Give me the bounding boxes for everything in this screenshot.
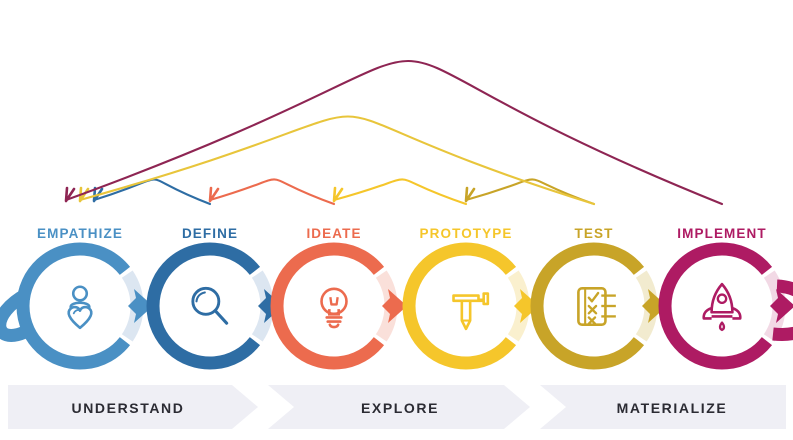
person-heart-icon: [69, 287, 92, 328]
ring-arc: [277, 249, 379, 363]
stage-label-test: TEST: [575, 226, 614, 241]
feedback-arrow-group: [66, 61, 722, 204]
feedback-arc-ideate-to-define: [210, 179, 334, 204]
hammer-pencil-icon: [454, 294, 488, 329]
phase-label-explore: EXPLORE: [361, 400, 439, 416]
stage-label-ideate: IDEATE: [306, 226, 361, 241]
magnifier-icon: [193, 288, 227, 323]
ring-arc: [153, 249, 255, 363]
lightbulb-icon: [322, 289, 347, 327]
stage-label-define: DEFINE: [182, 226, 238, 241]
stage-label-implement: IMPLEMENT: [677, 226, 766, 241]
feedback-arc-prototype-to-ideate: [334, 179, 466, 204]
stage-ring-implement: [665, 249, 793, 363]
phase-label-understand: UNDERSTAND: [72, 400, 185, 416]
ring-arc: [665, 249, 767, 363]
rocket-icon: [704, 284, 741, 330]
stage-ring-empathize: [0, 249, 153, 363]
stage-ring-prototype: [409, 249, 539, 363]
stage-ring-group: [0, 249, 793, 363]
checklist-icon: [578, 288, 615, 324]
feedback-arc-test-to-empathize: [80, 116, 594, 204]
design-thinking-diagram: EMPATHIZEDEFINEIDEATEPROTOTYPETESTIMPLEM…: [0, 0, 793, 440]
ring-arc: [409, 249, 511, 363]
phase-label-materialize: MATERIALIZE: [617, 400, 728, 416]
stage-ring-ideate: [277, 249, 407, 363]
stage-label-prototype: PROTOTYPE: [420, 226, 513, 241]
stage-label-empathize: EMPATHIZE: [37, 226, 123, 241]
diagram-canvas: [0, 0, 793, 440]
